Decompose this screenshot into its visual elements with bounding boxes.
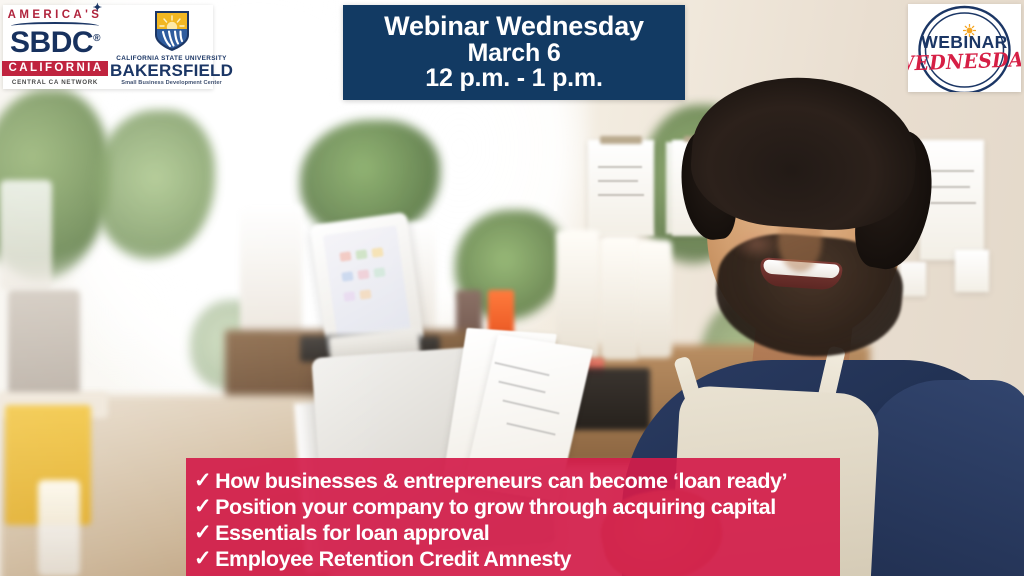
list-item-label: Essentials for loan approval [215, 520, 489, 546]
screen-tile [373, 267, 385, 277]
partner-logos-card: AMERICA'S ✦ SBDC® CALIFORNIA CENTRAL CA … [3, 5, 213, 89]
list-item: ✓ Employee Retention Credit Amnesty [194, 546, 840, 572]
check-icon: ✓ [194, 520, 211, 546]
check-icon: ✓ [194, 546, 211, 572]
screen-tile [371, 247, 383, 257]
screen-tile [343, 291, 355, 301]
badge-wednesday-label: WEDNESDAY [908, 50, 1021, 75]
badge-text: WEBINAR WEDNESDAY [908, 4, 1021, 92]
list-item: ✓ Essentials for loan approval [194, 520, 840, 546]
list-item: ✓ Position your company to grow through … [194, 494, 840, 520]
banner-line-3: 12 p.m. - 1 p.m. [425, 66, 602, 92]
paper-roll [556, 230, 600, 360]
list-item-label: How businesses & entrepreneurs can becom… [215, 468, 787, 494]
banner-line-2: March 6 [467, 41, 560, 67]
pos-tablet-screen [323, 225, 411, 340]
screen-tile [359, 289, 371, 299]
grey-pot [8, 290, 80, 405]
screen-tile [355, 249, 367, 259]
list-item-label: Position your company to grow through ac… [215, 494, 776, 520]
screen-tile [357, 269, 369, 279]
sbdc-logo: AMERICA'S ✦ SBDC® CALIFORNIA CENTRAL CA … [3, 5, 107, 89]
sbdc-state-label: CALIFORNIA [2, 61, 109, 76]
sbdc-wordmark-label: SBDC [10, 26, 93, 59]
shirt-sleeve [862, 380, 1024, 576]
banner-line-1: Webinar Wednesday [384, 13, 644, 41]
glass-jar [38, 480, 80, 576]
sbdc-americas-label: AMERICA'S [8, 9, 103, 21]
webinar-promo-poster: AMERICA'S ✦ SBDC® CALIFORNIA CENTRAL CA … [0, 0, 1024, 576]
white-planter [240, 205, 302, 335]
csu-line3: Small Business Development Center [121, 80, 222, 86]
sbdc-wordmark: SBDC® [10, 28, 100, 58]
shield-sunburst-icon [153, 9, 191, 53]
hair [687, 70, 921, 235]
csu-line2: BAKERSFIELD [110, 62, 233, 80]
list-item-label: Employee Retention Credit Amnesty [215, 546, 571, 572]
topics-list: ✓ How businesses & entrepreneurs can bec… [186, 458, 840, 576]
check-icon: ✓ [194, 468, 211, 494]
screen-tile [339, 251, 351, 261]
title-banner: Webinar Wednesday March 6 12 p.m. - 1 p.… [343, 5, 685, 100]
sunburst-icon [963, 24, 976, 37]
white-planter [0, 180, 52, 290]
list-item: ✓ How businesses & entrepreneurs can bec… [194, 468, 840, 494]
csu-bakersfield-logo: CALIFORNIA STATE UNIVERSITY BAKERSFIELD … [107, 5, 236, 89]
star-icon: ✦ [93, 3, 106, 14]
sbdc-americas-text: AMERICA'S ✦ [8, 10, 103, 22]
registered-icon: ® [93, 33, 100, 44]
sbdc-network-label: CENTRAL CA NETWORK [12, 79, 98, 86]
check-icon: ✓ [194, 494, 211, 520]
cheek [732, 228, 782, 260]
screen-tile [341, 271, 353, 281]
webinar-wednesday-badge: WEBINAR WEDNESDAY [908, 4, 1021, 92]
